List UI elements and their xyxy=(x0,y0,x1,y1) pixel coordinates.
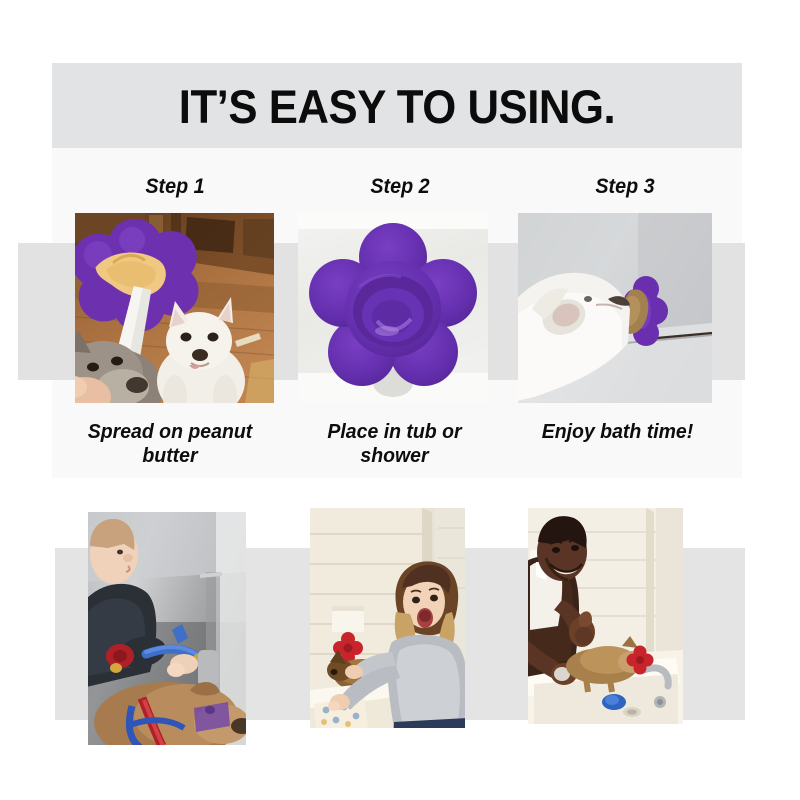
gallery-photo-2-art xyxy=(310,508,465,728)
step-2-photo xyxy=(298,213,488,403)
poster: IT’S EASY TO USING. Step 1 Step 2 Step 3 xyxy=(0,0,800,800)
step-3-photo-art xyxy=(518,213,712,403)
step-2-caption: Place in tub or shower xyxy=(297,420,492,472)
step-1-caption: Spread on peanut butter xyxy=(61,420,280,472)
step-2-photo-art xyxy=(298,213,488,403)
step-1-photo xyxy=(75,213,274,403)
gallery-photo-3 xyxy=(528,508,683,724)
gallery-photo-1 xyxy=(88,512,246,745)
step-3-photo xyxy=(518,213,712,403)
page-title: IT’S EASY TO USING. xyxy=(76,70,718,142)
step-3-caption: Enjoy bath time! xyxy=(515,420,719,472)
gallery-photo-2 xyxy=(310,508,465,728)
gallery-photo-3-art xyxy=(528,508,683,724)
gallery-photo-1-art xyxy=(88,512,246,745)
step-2-label: Step 2 xyxy=(325,174,475,200)
step-1-label: Step 1 xyxy=(100,174,250,200)
step-1-photo-art xyxy=(75,213,274,403)
step-3-label: Step 3 xyxy=(550,174,700,200)
